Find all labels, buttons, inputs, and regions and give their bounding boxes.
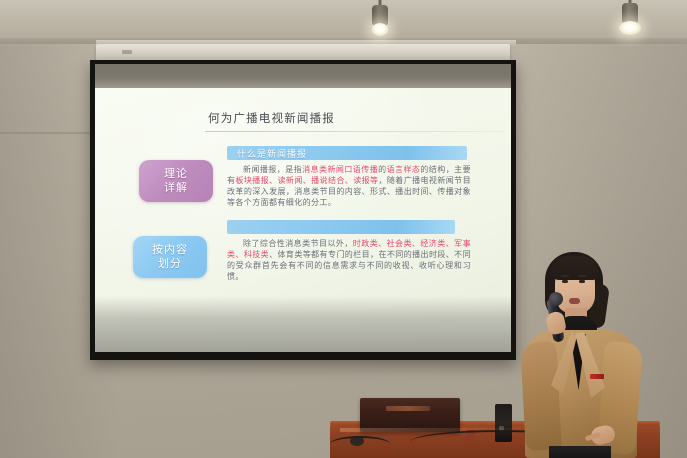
p1-highlight-c: 板块播报、读新闻、播说结合、读报等 [235,176,378,185]
chip-theory-line1: 理论 [164,167,188,181]
ceiling [0,0,687,40]
p1-text-b: 的 [378,165,386,174]
slide-title: 何为广播电视新闻播报 [208,110,335,126]
chip-category-line2: 划分 [158,257,182,271]
laptop [360,398,460,432]
projection-screen: 何为广播电视新闻播报 理论 详解 什么是新闻播报 新闻播报，是指消息类新闻口语传… [90,60,516,360]
spotlight-bulb [619,21,641,35]
p1-highlight-b: 语言样态 [387,165,421,174]
slide-chip-theory: 理论 详解 [139,160,213,202]
presenter-eyebrow-right [578,275,586,277]
slide-section-bar-1-label: 什么是新闻播报 [237,147,307,160]
slide-paragraph-1: 新闻播报，是指消息类新闻口语传播的语言样态的结构，主要有板块播报、读新闻、播说结… [227,164,471,208]
presenter-lower-garment [549,446,611,458]
chip-category-line1: 按内容 [152,243,188,257]
presenter-eyebrow-left [561,275,569,277]
slide-paragraph-2: 除了综合性消息类节目以外，时政类、社会类、经济类、军事类、科技类、体育类等都有专… [227,238,471,282]
slide-section-bar-2 [227,220,455,234]
screen-housing-cap [122,50,132,54]
slide-title-rule [205,131,505,132]
slide-section-bar-1: 什么是新闻播报 [227,146,467,160]
projection-screen-surface: 何为广播电视新闻播报 理论 详解 什么是新闻播报 新闻播报，是指消息类新闻口语传… [95,64,511,352]
p2-text-a: 除了综合性消息类节目以外， [243,239,353,248]
spotlight-bulb [372,23,389,36]
lecture-room-scene: 何为广播电视新闻播报 理论 详解 什么是新闻播报 新闻播报，是指消息类新闻口语传… [0,0,687,458]
p1-text-a: 新闻播报，是指 [243,165,302,174]
presenter [505,250,655,458]
presenter-badge [590,374,604,379]
ceiling-spotlight-left [370,0,390,38]
screen-dim-band-bottom [95,296,511,352]
presenter-arm-left [520,341,562,451]
presenter-hair-front [551,256,599,280]
laptop-logo [386,406,430,411]
presenter-eye-left [562,280,568,283]
slide-chip-category: 按内容 划分 [133,236,207,278]
screen-unlit-band-top [95,64,511,88]
presenter-mouth [569,298,580,304]
p1-highlight-a: 消息类新闻口语传播 [302,165,378,174]
chip-theory-line2: 详解 [164,181,188,195]
ceiling-spotlight-right [620,0,640,36]
presenter-eye-right [579,280,585,283]
